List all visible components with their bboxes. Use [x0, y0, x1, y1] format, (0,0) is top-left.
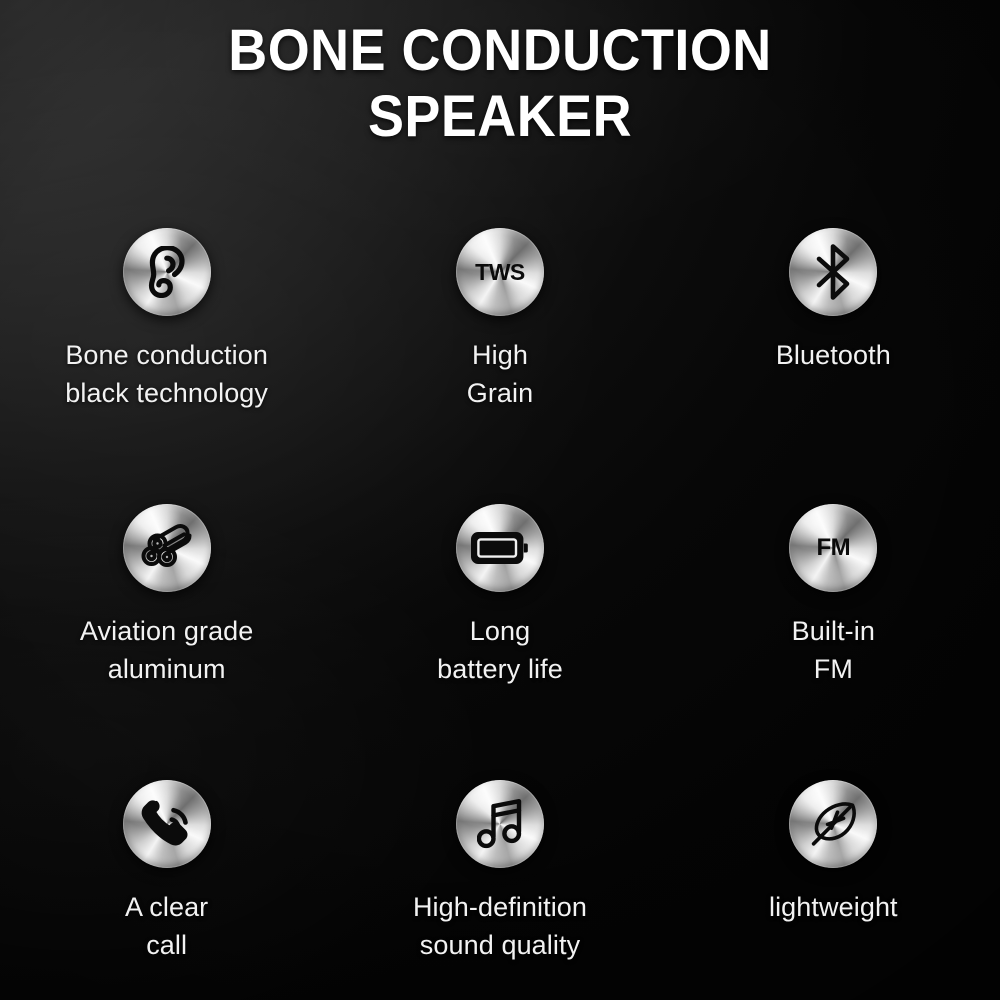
- feature-item-aviation-aluminum: Aviation grade aluminum: [0, 504, 333, 780]
- caption-line-1: A clear: [125, 888, 208, 926]
- feature-item-bone-conduction: Bone conduction black technology: [0, 228, 333, 504]
- caption-line-1: Long: [437, 612, 563, 650]
- caption-line-1: High: [467, 336, 534, 374]
- caption-line-1: Built-in: [792, 612, 875, 650]
- caption-line-1: High-definition: [413, 888, 587, 926]
- tws-text-icon: TWS: [456, 228, 544, 316]
- feature-caption: Built-in FM: [792, 612, 875, 688]
- feature-caption: High Grain: [467, 336, 534, 412]
- icon-disc: [789, 780, 877, 868]
- bluetooth-icon: [789, 228, 877, 316]
- caption-line-1: lightweight: [769, 888, 898, 926]
- caption-line-2: call: [125, 926, 208, 964]
- icon-disc: [123, 780, 211, 868]
- feature-item-clear-call: A clear call: [0, 780, 333, 1000]
- ear-icon: [123, 228, 211, 316]
- caption-line-2: aluminum: [80, 650, 254, 688]
- tws-label: TWS: [475, 261, 525, 284]
- icon-disc: [456, 504, 544, 592]
- feature-caption: Aviation grade aluminum: [80, 612, 254, 688]
- caption-line-1: Bluetooth: [776, 336, 891, 374]
- icon-disc: [123, 504, 211, 592]
- caption-line-2: FM: [792, 650, 875, 688]
- feature-item-bluetooth: Bluetooth: [667, 228, 1000, 504]
- battery-full-icon: [456, 504, 544, 592]
- caption-line-2: Grain: [467, 374, 534, 412]
- feature-grid: Bone conduction black technology TWS Hig…: [0, 228, 1000, 1000]
- title-line-2: SPEAKER: [35, 84, 965, 150]
- caption-line-2: battery life: [437, 650, 563, 688]
- icon-disc: [123, 228, 211, 316]
- icon-disc: TWS: [456, 228, 544, 316]
- feature-item-battery: Long battery life: [333, 504, 666, 780]
- music-note-icon: [456, 780, 544, 868]
- feature-caption: High-definition sound quality: [413, 888, 587, 964]
- feature-caption: A clear call: [125, 888, 208, 964]
- phone-call-icon: [123, 780, 211, 868]
- product-feature-poster: BONE CONDUCTION SPEAKER Bone conduction …: [0, 0, 1000, 1000]
- caption-line-1: Bone conduction: [65, 336, 268, 374]
- poster-title: BONE CONDUCTION SPEAKER: [0, 18, 1000, 150]
- feature-caption: Long battery life: [437, 612, 563, 688]
- feature-item-built-in-fm: FM Built-in FM: [667, 504, 1000, 780]
- feature-caption: lightweight: [769, 888, 898, 926]
- feather-icon: [789, 780, 877, 868]
- feature-item-high-grain: TWS High Grain: [333, 228, 666, 504]
- icon-disc: FM: [789, 504, 877, 592]
- icon-disc: [789, 228, 877, 316]
- caption-line-2: sound quality: [413, 926, 587, 964]
- fm-label: FM: [817, 536, 851, 560]
- title-line-1: BONE CONDUCTION: [35, 18, 965, 84]
- caption-line-1: Aviation grade: [80, 612, 254, 650]
- aluminum-tubes-icon: [123, 504, 211, 592]
- caption-line-2: black technology: [65, 374, 268, 412]
- fm-text-icon: FM: [789, 504, 877, 592]
- feature-item-sound-quality: High-definition sound quality: [333, 780, 666, 1000]
- feature-item-lightweight: lightweight: [667, 780, 1000, 1000]
- icon-disc: [456, 780, 544, 868]
- feature-caption: Bone conduction black technology: [65, 336, 268, 412]
- feature-caption: Bluetooth: [776, 336, 891, 374]
